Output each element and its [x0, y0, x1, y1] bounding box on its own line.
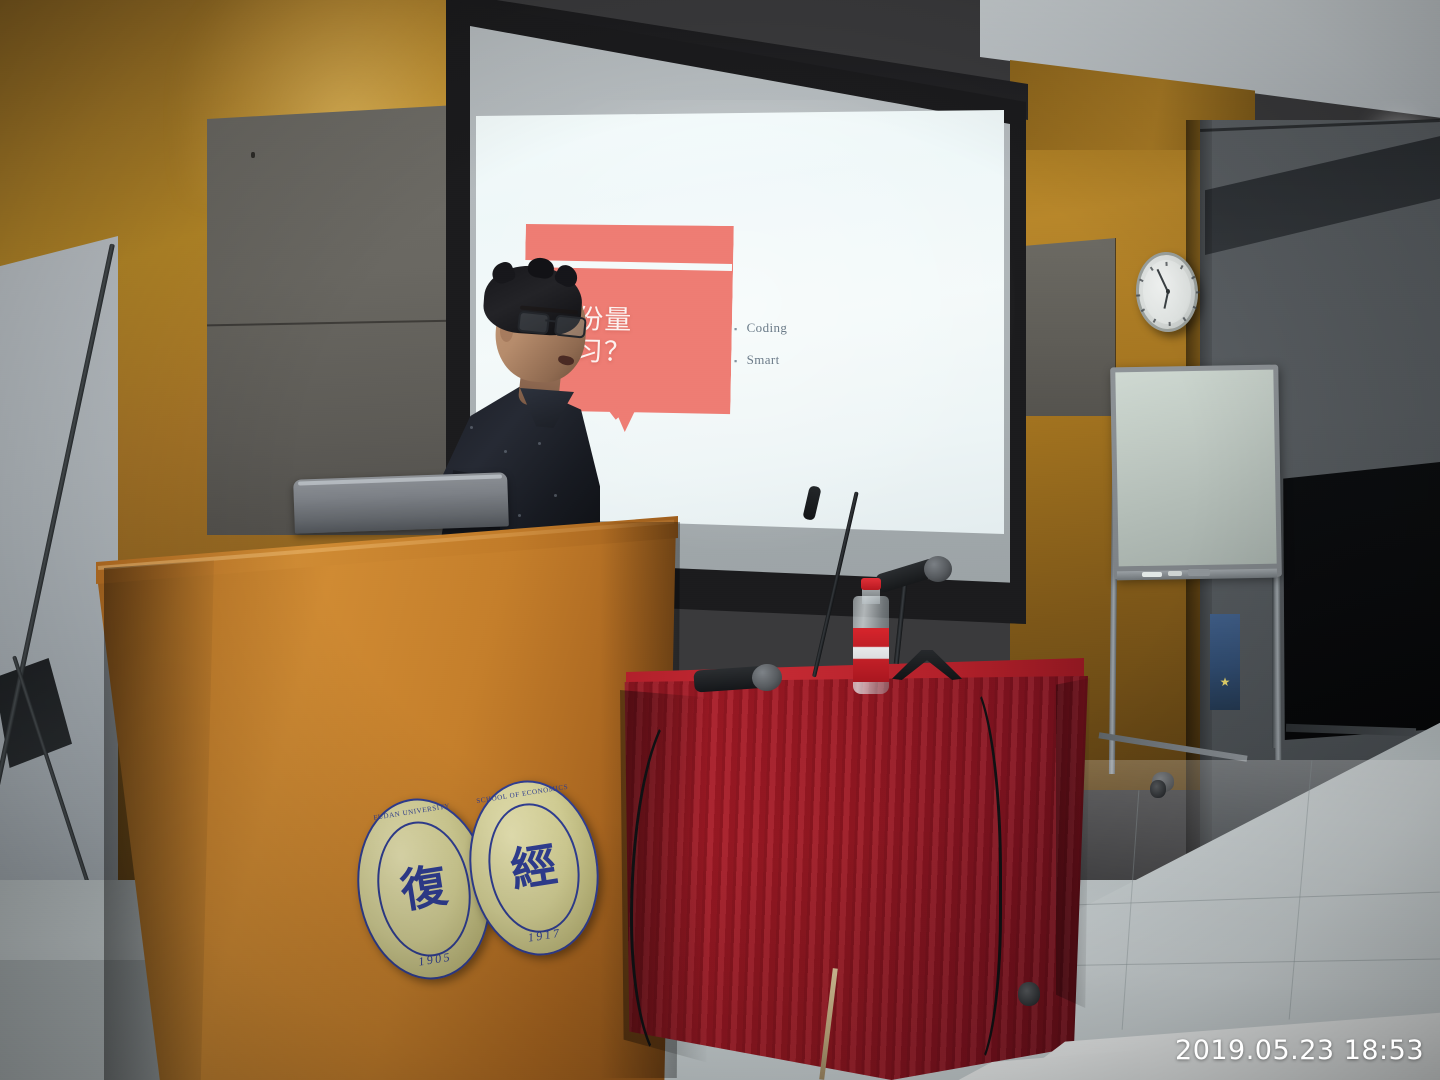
clock-tick [1183, 317, 1187, 321]
slide-bullet-item: ▪ Coding [734, 320, 924, 336]
whiteboard-eraser [1188, 569, 1210, 576]
clock-tick [1169, 322, 1171, 326]
slide-bullet-label: Smart [747, 352, 780, 368]
handheld-microphone-head [924, 556, 952, 582]
clock-tick [1165, 262, 1167, 266]
clock-tick [1193, 306, 1197, 310]
clock-tick [1141, 308, 1145, 312]
camera-timestamp: 2019.05.23 18:53 [1175, 1035, 1424, 1066]
wall-speck [251, 152, 255, 158]
dark-display-board [1280, 462, 1440, 740]
clock-face [1141, 259, 1192, 325]
bullet-marker-icon: ▪ [734, 325, 738, 334]
acoustic-panel-right [1023, 238, 1116, 416]
audio-cable [930, 676, 1002, 1072]
clock-tick [1139, 279, 1143, 283]
clock-tick [1191, 276, 1195, 280]
slide-bullet-item: ▪ Smart [734, 352, 924, 368]
table-skirt-fold [1056, 678, 1090, 1008]
clock-hour-hand [1163, 292, 1168, 309]
whiteboard-marker [1142, 572, 1162, 577]
clock-tick [1196, 291, 1200, 293]
lectern-front-shadow [104, 560, 214, 1080]
glasses-lens-left [517, 311, 550, 335]
slide-bubble-tail-icon [614, 408, 636, 432]
clock-tick [1150, 267, 1154, 271]
clock-center-pin [1165, 289, 1169, 294]
whiteboard-surface [1115, 370, 1276, 567]
star-icon: ★ [1219, 676, 1231, 688]
small-poster [1210, 614, 1240, 710]
water-bottle-cap [861, 578, 881, 590]
glasses-lens-right [554, 314, 587, 338]
table-caster [1150, 780, 1166, 798]
clock-tick [1136, 294, 1140, 296]
table-caster [1018, 982, 1040, 1006]
bullet-marker-icon: ▪ [734, 357, 738, 366]
slide-bullet-label: Coding [747, 320, 788, 336]
whiteboard-marker [1168, 571, 1182, 576]
lecture-hall-photo: 找一份量 化实习？ ▪ Coding ▪ Smart ★ [0, 0, 1440, 1080]
clock-tick [1153, 318, 1157, 322]
shirt-pattern-dot [470, 426, 473, 429]
shirt-pattern-dot [554, 494, 557, 497]
clock-tick [1180, 265, 1184, 269]
slide-bullet-list: ▪ Coding ▪ Smart [734, 320, 924, 384]
shirt-pattern-dot [518, 514, 521, 517]
shirt-pattern-dot [504, 450, 507, 453]
emblem-glyph: 經 [469, 835, 599, 900]
shirt-pattern-dot [538, 442, 541, 445]
water-bottle-label [853, 628, 889, 682]
